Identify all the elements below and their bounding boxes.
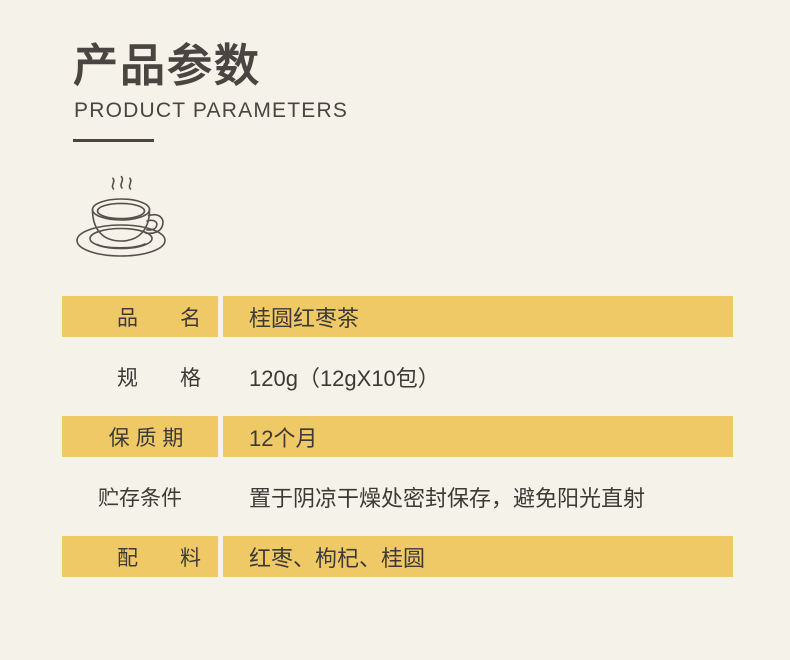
- row-value-text: 红枣、枸杞、桂圆: [249, 541, 425, 573]
- row-label-cell: 保 质 期: [62, 416, 218, 457]
- row-label-text: 配 料: [79, 542, 201, 572]
- page-subtitle: PRODUCT PARAMETERS: [74, 99, 733, 123]
- row-value-cell: 置于阴凉干燥处密封保存，避免阳光直射: [223, 476, 733, 517]
- row-label-text: 规 格: [79, 362, 201, 392]
- row-label-cell: 配 料: [62, 536, 218, 577]
- row-label-text: 保 质 期: [97, 422, 184, 452]
- teacup-icon: [66, 168, 176, 268]
- row-value-cell: 红枣、枸杞、桂圆: [223, 536, 733, 577]
- row-value-text: 12个月: [249, 421, 317, 453]
- row-label-text: 品 名: [79, 302, 201, 332]
- table-row: 保 质 期 12个月: [62, 416, 733, 457]
- row-label-text: 贮存条件: [98, 482, 182, 512]
- row-value-cell: 12个月: [223, 416, 733, 457]
- table-row: 规 格 120g（12gX10包）: [62, 356, 733, 397]
- page-title: 产品参数: [73, 40, 733, 92]
- title-underline-divider: [73, 139, 154, 142]
- table-row: 品 名 桂圆红枣茶: [62, 296, 733, 337]
- row-label-cell: 贮存条件: [62, 476, 218, 517]
- row-label-cell: 品 名: [62, 296, 218, 337]
- row-value-text: 120g（12gX10包）: [249, 361, 440, 393]
- product-parameters-table: 品 名 桂圆红枣茶 规 格 120g（12gX10包） 保 质 期 12个月 贮…: [62, 296, 733, 577]
- row-value-cell: 桂圆红枣茶: [223, 296, 733, 337]
- row-value-cell: 120g（12gX10包）: [223, 356, 733, 397]
- row-value-text: 桂圆红枣茶: [249, 301, 359, 333]
- page-header: 产品参数 PRODUCT PARAMETERS: [73, 40, 733, 142]
- table-row: 配 料 红枣、枸杞、桂圆: [62, 536, 733, 577]
- table-row: 贮存条件 置于阴凉干燥处密封保存，避免阳光直射: [62, 476, 733, 517]
- row-value-text: 置于阴凉干燥处密封保存，避免阳光直射: [249, 481, 645, 513]
- row-label-cell: 规 格: [62, 356, 218, 397]
